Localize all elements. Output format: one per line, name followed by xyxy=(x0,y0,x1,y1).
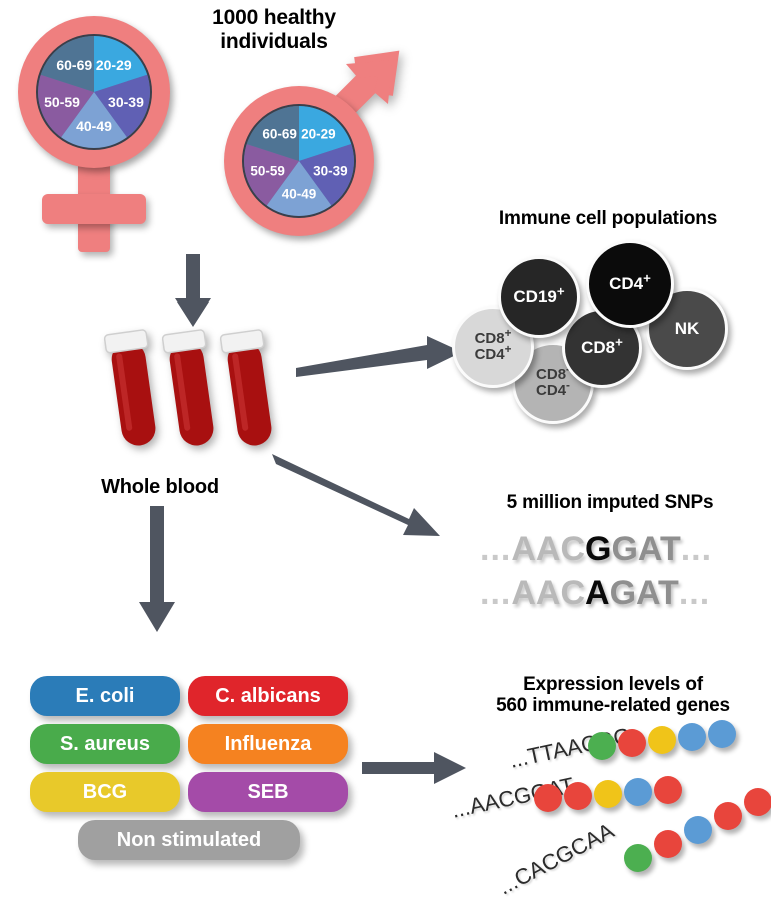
cohort-title-line-2: individuals xyxy=(176,30,372,54)
snp-variant-base: G xyxy=(585,530,611,569)
expression-dot xyxy=(648,726,676,754)
immune-cell-cd19pos: CD19+ xyxy=(498,256,580,338)
whole-blood-label: Whole blood xyxy=(76,476,244,498)
snp-right-bases: GAT xyxy=(610,574,679,613)
whole-blood-tubes xyxy=(98,330,288,460)
expression-sequence-3: ...CACGCAA xyxy=(494,818,618,901)
expression-dot xyxy=(564,782,592,810)
stimulus-pill-influenza[interactable]: Influenza xyxy=(188,724,348,764)
cohort-title-line-1: 1000 healthy xyxy=(176,6,372,30)
expression-dot xyxy=(624,778,652,806)
snp-left-bases: AAC xyxy=(511,530,585,569)
expression-dot xyxy=(588,732,616,760)
stimulus-label: S. aureus xyxy=(60,733,150,756)
expression-dot xyxy=(594,780,622,808)
stimulus-pill-e-coli[interactable]: E. coli xyxy=(30,676,180,716)
stimulus-label: Non stimulated xyxy=(117,829,261,852)
snp-row-2: ...AACAGAT... xyxy=(480,574,710,613)
pie-label-30-39: 30-39 xyxy=(313,164,348,179)
arrow-to-snps xyxy=(272,452,456,544)
pie-label-60-69: 60-69 xyxy=(262,127,297,142)
arrow-down-to-stimuli xyxy=(132,506,182,636)
stimuli-panel: E. coliC. albicansS. aureusInfluenzaBCGS… xyxy=(30,676,352,896)
figure-canvas: 1000 healthy individuals 20-2930-3940-49… xyxy=(0,0,771,922)
pie-label-40-49: 40-49 xyxy=(76,118,112,134)
immune-cell-label: CD8+ xyxy=(581,339,623,357)
snp-variant-base: A xyxy=(585,574,610,613)
immune-cell-label: NK xyxy=(675,320,700,338)
pie-label-20-29: 20-29 xyxy=(96,57,132,73)
immune-cell-group: CD19+CD4+NKCD8+CD4+CD8+CD8-CD4-Neutrophi… xyxy=(450,238,766,428)
female-age-pie-chart: 20-2930-3940-4950-5960-69 xyxy=(36,34,152,150)
snp-suffix-dots: ... xyxy=(679,574,710,613)
immune-cell-label: CD8-CD4- xyxy=(536,367,570,398)
immune-cell-label: CD8+CD4+ xyxy=(475,331,512,362)
immune-title: Immune cell populations xyxy=(452,208,764,229)
expression-dot xyxy=(534,784,562,812)
expression-title: Expression levels of 560 immune-related … xyxy=(458,674,768,717)
stimulus-pill-c-albicans[interactable]: C. albicans xyxy=(188,676,348,716)
snp-prefix-dots: ... xyxy=(480,574,511,613)
stimulus-pill-s-aureus[interactable]: S. aureus xyxy=(30,724,180,764)
expression-strands: ...TTAACGG...AACGGAT...CACGCAA xyxy=(452,726,771,916)
cohort-title: 1000 healthy individuals xyxy=(176,6,372,53)
expression-dot xyxy=(678,723,706,751)
female-gender-symbol: 20-2930-3940-4950-5960-69 xyxy=(14,12,194,262)
expression-dot xyxy=(708,720,736,748)
pie-label-40-49: 40-49 xyxy=(282,187,317,202)
expression-dot xyxy=(618,729,646,757)
female-symbol-crossbar xyxy=(42,194,146,224)
expression-dot xyxy=(624,844,652,872)
expression-dot xyxy=(714,802,742,830)
arrow-to-immune-cells xyxy=(296,328,464,380)
pie-label-50-59: 50-59 xyxy=(250,164,285,179)
snp-row-1: ...AACGGAT... xyxy=(480,530,712,569)
pie-label-20-29: 20-29 xyxy=(301,127,336,142)
expression-dot xyxy=(654,830,682,858)
immune-cell-cd4pos: CD4+ xyxy=(586,240,674,328)
male-gender-symbol: 20-2930-3940-4950-5960-69 xyxy=(206,62,422,252)
stimulus-label: BCG xyxy=(83,781,127,804)
immune-cell-label: CD19+ xyxy=(513,288,564,306)
male-age-pie-chart: 20-2930-3940-4950-5960-69 xyxy=(242,104,356,218)
stimulus-label: E. coli xyxy=(76,685,135,708)
stimulus-label: Influenza xyxy=(225,733,312,756)
stimulus-pill-non-stimulated[interactable]: Non stimulated xyxy=(78,820,300,860)
snp-prefix-dots: ... xyxy=(480,530,511,569)
stimulus-label: C. albicans xyxy=(215,685,321,708)
pie-label-60-69: 60-69 xyxy=(56,57,92,73)
pie-label-50-59: 50-59 xyxy=(44,94,80,110)
snp-left-bases: AAC xyxy=(511,574,585,613)
snp-suffix-dots: ... xyxy=(681,530,712,569)
expression-dot xyxy=(744,788,771,816)
immune-cell-label: CD4+ xyxy=(609,275,651,293)
stimulus-pill-seb[interactable]: SEB xyxy=(188,772,348,812)
snp-right-bases: GAT xyxy=(611,530,680,569)
expression-dot xyxy=(654,776,682,804)
expression-dot xyxy=(684,816,712,844)
snps-title: 5 million imputed SNPs xyxy=(460,492,760,513)
stimulus-label: SEB xyxy=(247,781,288,804)
snp-sequences: ...AACGGAT......AACAGAT... xyxy=(480,530,750,620)
expression-title-line-2: 560 immune-related genes xyxy=(458,695,768,716)
pie-label-30-39: 30-39 xyxy=(108,94,144,110)
stimulus-pill-bcg[interactable]: BCG xyxy=(30,772,180,812)
expression-title-line-1: Expression levels of xyxy=(458,674,768,695)
arrow-down-to-blood xyxy=(168,254,218,330)
